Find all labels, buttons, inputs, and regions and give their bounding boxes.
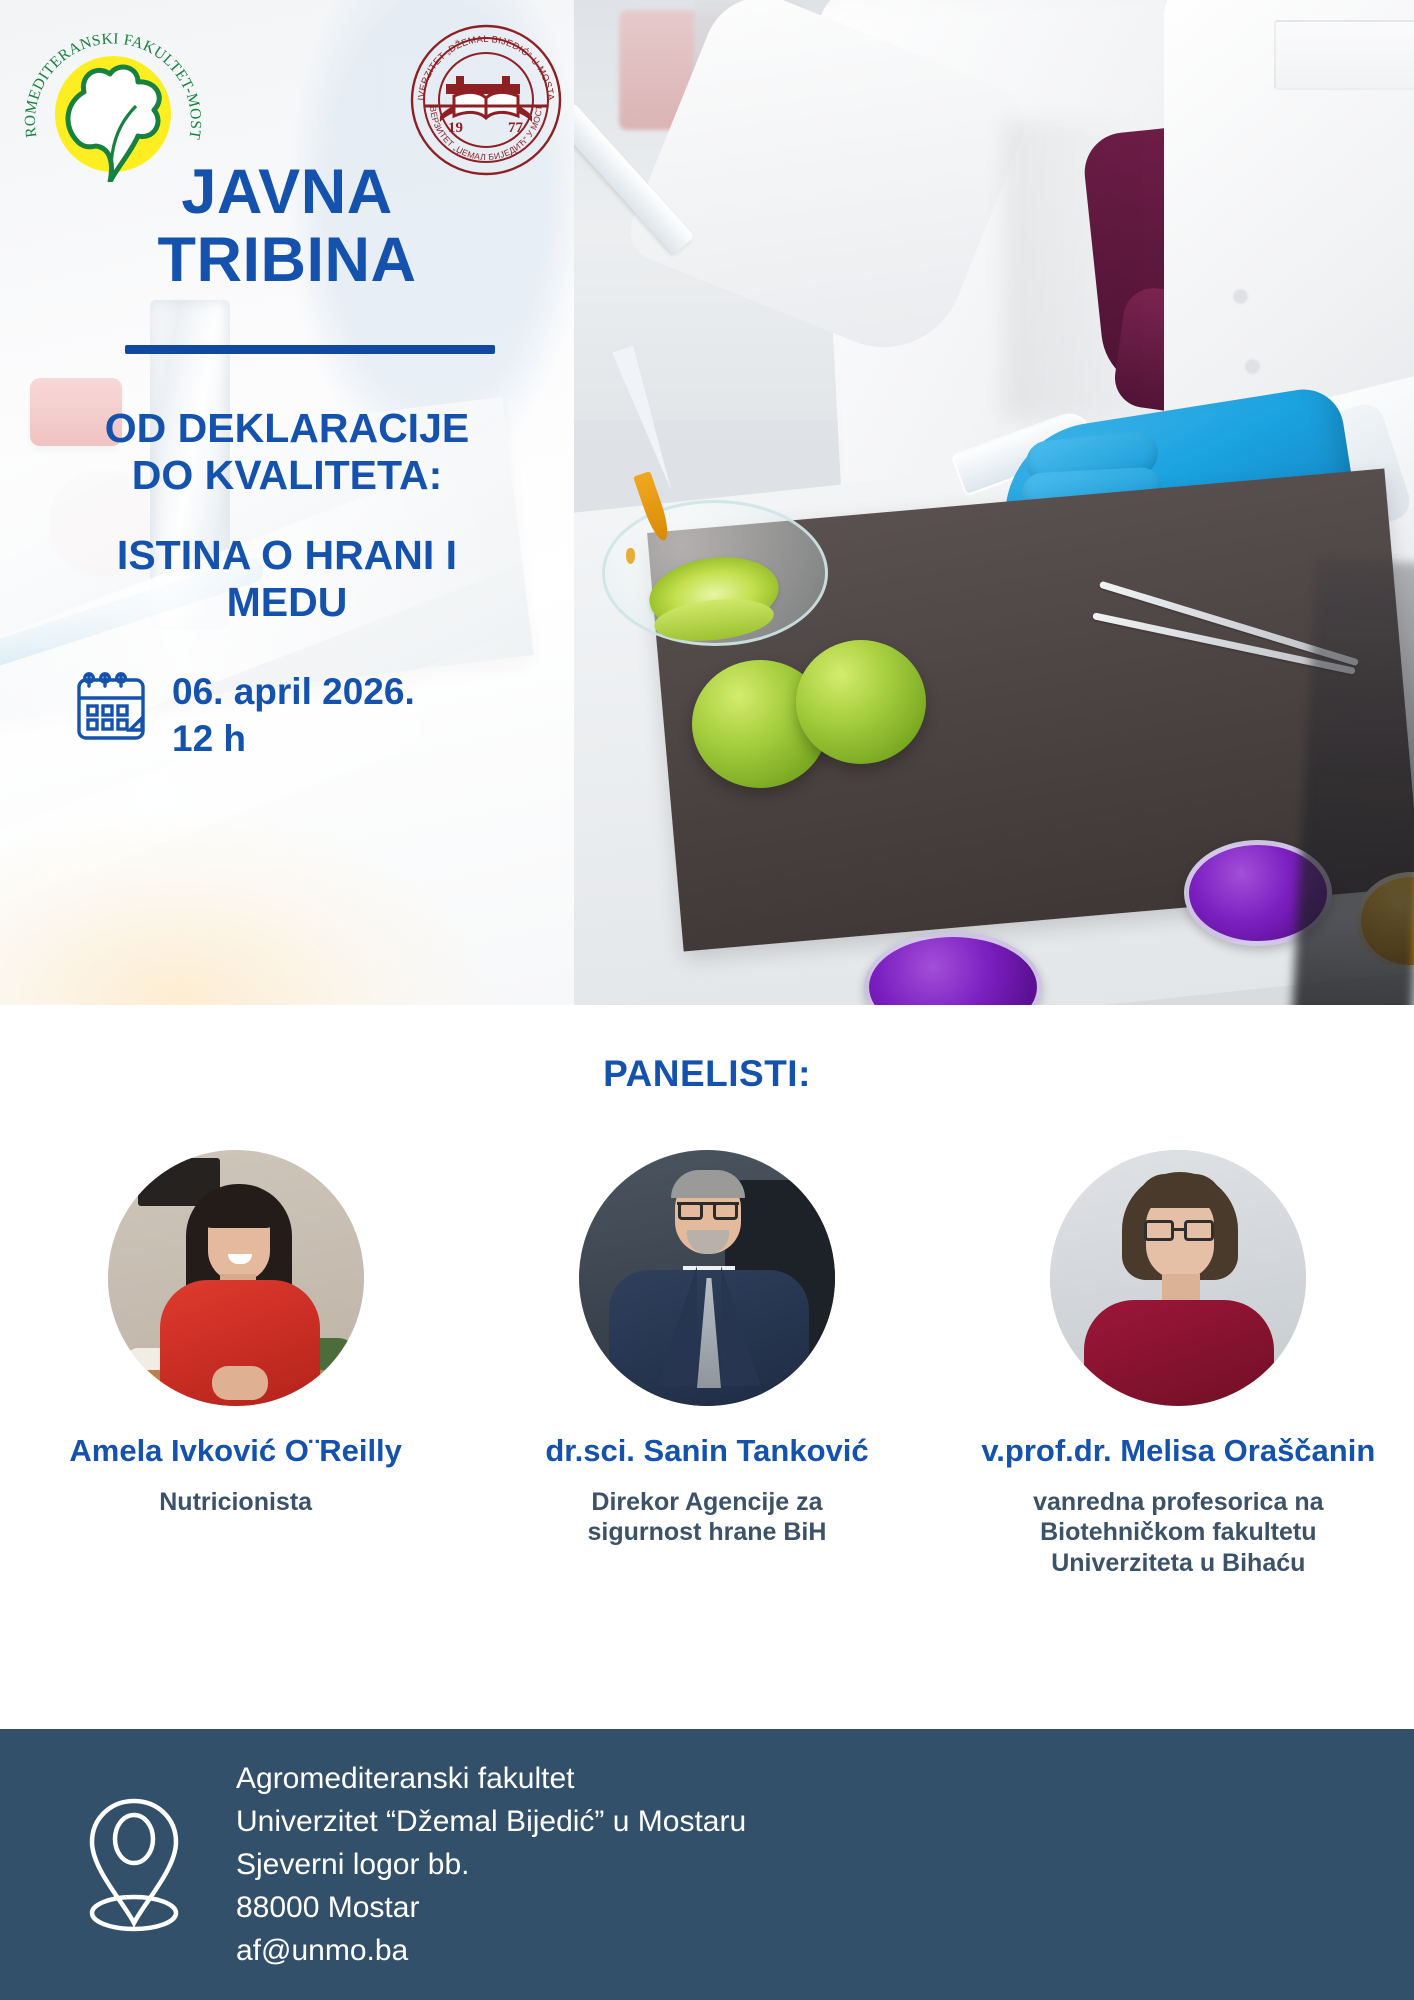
footer-line-1: Agromediteranski fakultet: [236, 1757, 746, 1800]
footer-email[interactable]: af@unmo.ba: [236, 1929, 746, 1972]
decor-warm-glow: [0, 815, 490, 1005]
event-date: 06. april 2026.: [172, 668, 415, 715]
photo-lime-2: [796, 640, 926, 764]
photo-coat-pocket: [1274, 20, 1414, 90]
panelists-heading: PANELISTI:: [0, 1053, 1414, 1095]
hero-section: AGROMEDITERANSKI FAKULTET-MOSTAR 19 77 U…: [0, 0, 1414, 1005]
footer-line-4: 88000 Mostar: [236, 1886, 746, 1929]
event-time: 12 h: [172, 715, 415, 762]
subtitle-line-4: MEDU: [40, 579, 534, 626]
panelist-card: Amela Ivković O¨Reilly Nutricionista: [16, 1150, 456, 1517]
panelists-row: Amela Ivković O¨Reilly Nutricionista dr.…: [0, 1150, 1414, 1578]
photo-coat-fold: [1004, 120, 1144, 420]
subtitle-line-3: ISTINA O HRANI I: [40, 532, 534, 579]
location-pin-icon: [78, 1787, 190, 1942]
datetime-text: 06. april 2026. 12 h: [172, 668, 415, 763]
avatar: [108, 1150, 364, 1406]
panelist-card: dr.sci. Sanin Tanković Direkor Agencije …: [487, 1150, 927, 1548]
subtitle-line-2: DO KVALITETA:: [40, 452, 534, 499]
subtitle-block-1: OD DEKLARACIJE DO KVALITETA:: [0, 405, 574, 498]
footer-line-3: Sjeverni logor bb.: [236, 1843, 746, 1886]
calendar-icon: [72, 668, 150, 751]
footer-contact-bar: Agromediteranski fakultet Univerzitet “D…: [0, 1729, 1414, 2000]
panelist-name: v.prof.dr. Melisa Oraščanin: [981, 1434, 1375, 1469]
avatar: [1050, 1150, 1306, 1406]
title-line-1: JAVNA: [0, 158, 574, 226]
photo-coat-button-1: [1234, 290, 1247, 303]
panelist-card: v.prof.dr. Melisa Oraščanin vanredna pro…: [958, 1150, 1398, 1578]
title-line-2: TRIBINA: [0, 226, 574, 294]
panelist-name: Amela Ivković O¨Reilly: [69, 1434, 402, 1469]
title-divider: [125, 345, 495, 354]
footer-line-2: Univerzitet “Džemal Bijedić” u Mostaru: [236, 1800, 746, 1843]
panelist-role: vanredna profesorica na Biotehničkom fak…: [1033, 1487, 1323, 1579]
subtitle-block-2: ISTINA O HRANI I MEDU: [0, 532, 574, 625]
panelist-name: dr.sci. Sanin Tanković: [545, 1434, 868, 1469]
footer-address: Agromediteranski fakultet Univerzitet “D…: [236, 1757, 746, 1973]
univerzitet-dzemal-bijedic-seal: 19 77 UNIVERZITET „DŽEMAL BIJEDIĆ“ U MOS…: [410, 24, 562, 176]
seal-year-left: 19: [448, 120, 463, 136]
photo-pipette-drop: [626, 548, 635, 564]
subtitle-line-1: OD DEKLARACIJE: [40, 405, 534, 452]
seal-year-right: 77: [508, 120, 524, 136]
event-datetime: 06. april 2026. 12 h: [72, 668, 542, 763]
avatar: [579, 1150, 835, 1406]
page-title: JAVNA TRIBINA: [0, 158, 574, 294]
laboratory-photo: [574, 0, 1414, 1005]
photo-coat-button-2: [1246, 360, 1259, 373]
panelist-role: Nutricionista: [159, 1487, 312, 1518]
panelist-role: Direkor Agencije za sigurnost hrane BiH: [588, 1487, 827, 1548]
